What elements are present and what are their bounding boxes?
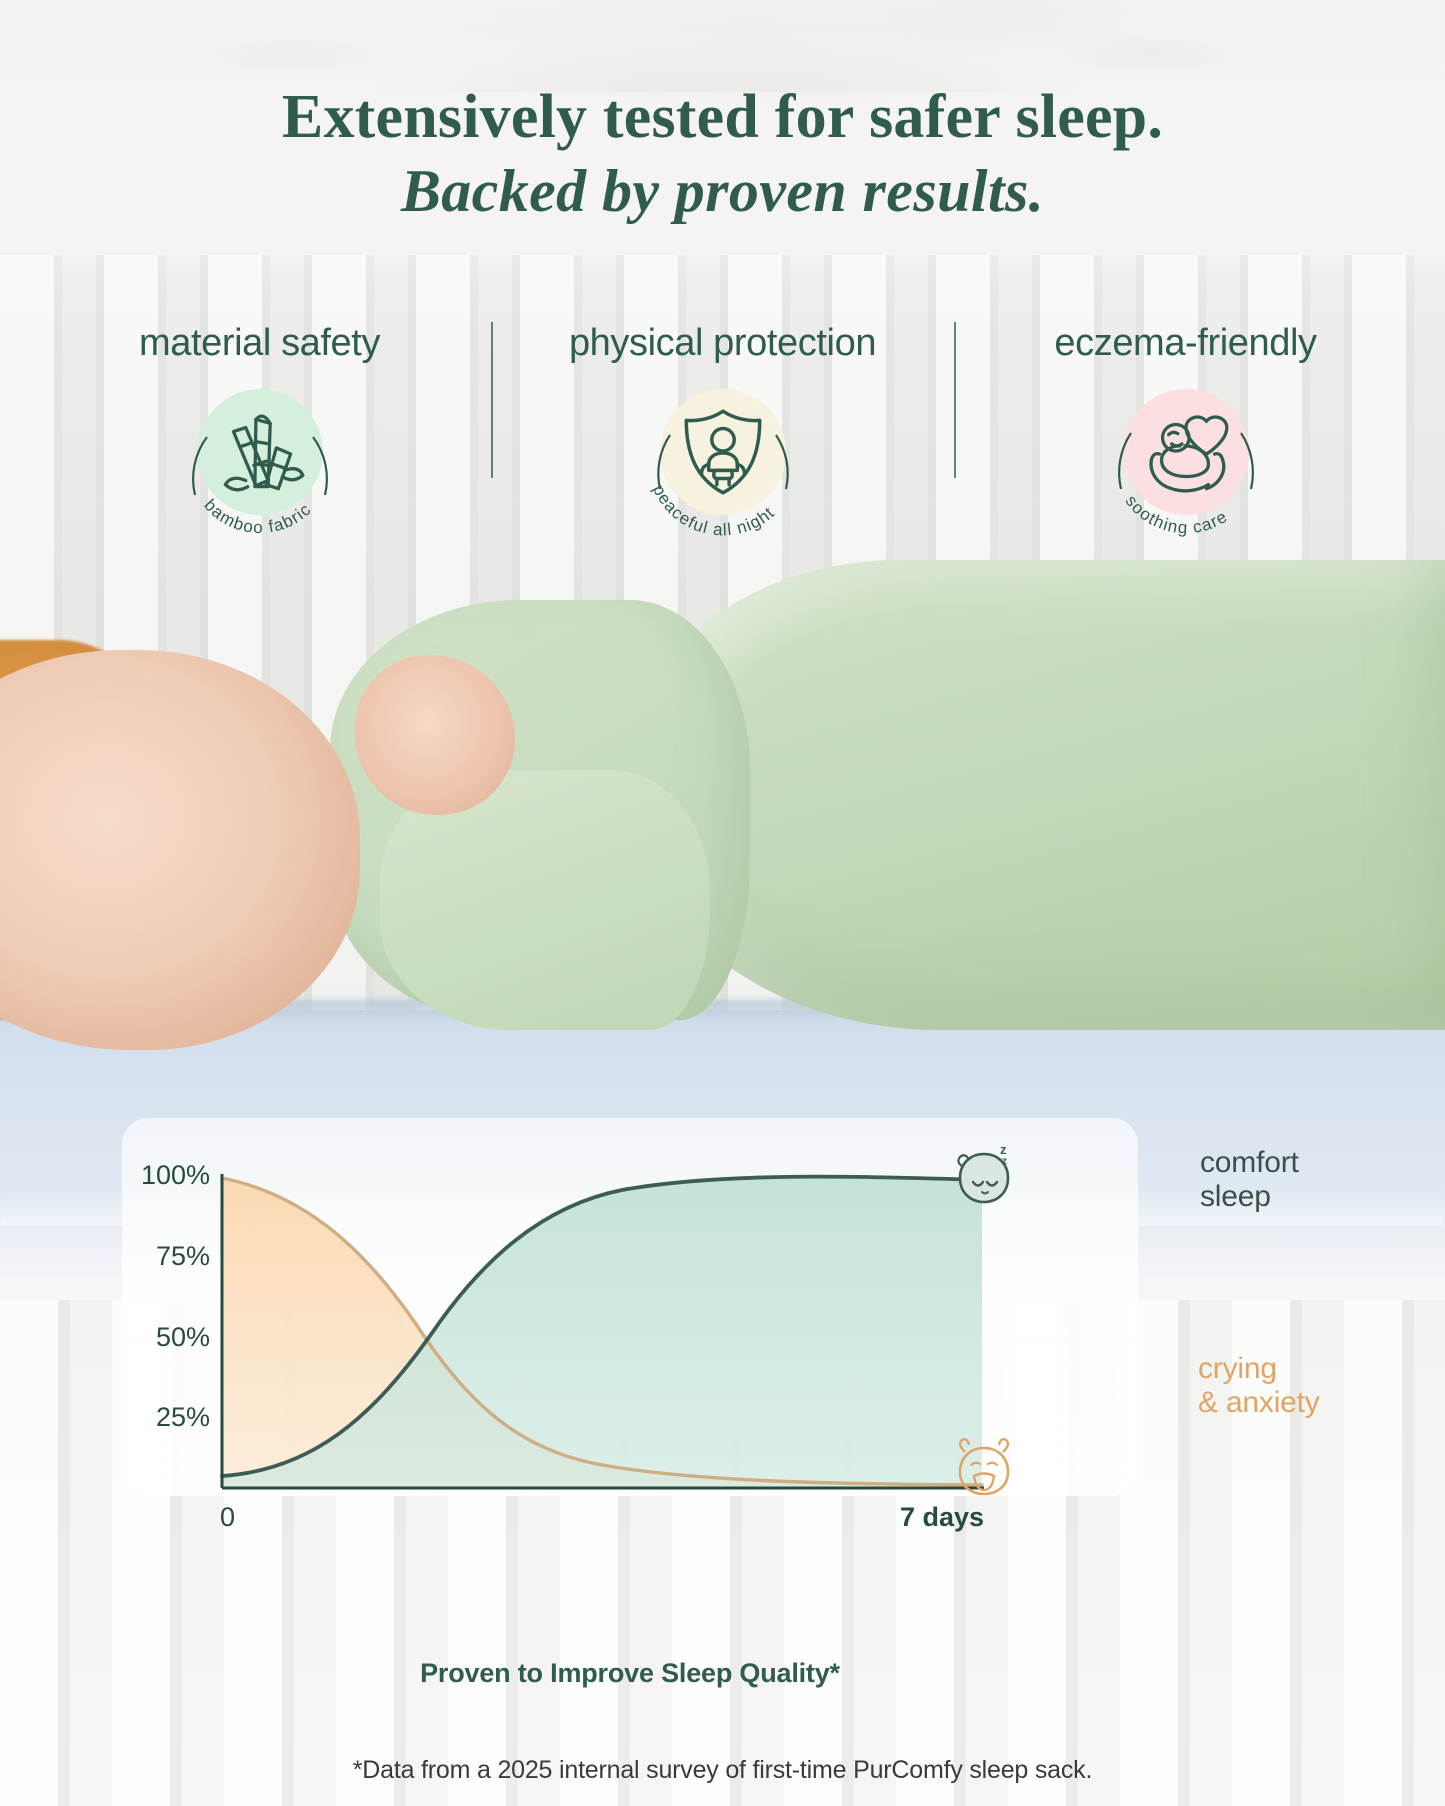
svg-text:z: z [1002,1156,1007,1167]
sleep-quality-chart: 100% 75% 50% 25% 0 7 days z z [122,1118,1222,1538]
y-tick-25: 25% [156,1402,210,1432]
feature-row: material safety bamboo fabric [28,322,1417,555]
badge-bamboo-fabric: bamboo fabric [171,377,349,555]
x-tick-start: 0 [220,1502,235,1532]
badge-soothing-care: soothing care [1097,377,1275,555]
legend-comfort-line2: sleep [1200,1180,1299,1214]
y-tick-100: 100% [141,1160,210,1190]
legend-comfort-sleep: comfort sleep [1200,1146,1299,1213]
footnote-disclaimer: *Data from a 2025 internal survey of fir… [0,1756,1445,1785]
baby-sleep-sack [640,560,1445,1030]
page-title: Extensively tested for safer sleep. Back… [0,86,1445,222]
svg-text:z: z [1000,1142,1007,1157]
y-tick-50: 50% [156,1322,210,1352]
feature-label: material safety [139,322,380,365]
x-tick-end: 7 days [900,1502,984,1532]
chart-title: Proven to Improve Sleep Quality* [122,1658,1138,1689]
legend-crying-line2: & anxiety [1198,1386,1320,1420]
feature-material-safety: material safety bamboo fabric [28,322,491,555]
shield-baby-icon [672,401,774,503]
headline-line-2: Backed by proven results. [0,161,1445,222]
feature-eczema-friendly: eczema-friendly soothing care [954,322,1417,555]
feature-label: eczema-friendly [1054,322,1316,365]
legend-crying-anxiety: crying & anxiety [1198,1352,1320,1419]
headline-line-1: Extensively tested for safer sleep. [282,83,1163,151]
badge-peaceful-all-night: peaceful all night [634,377,812,555]
legend-crying-line1: crying [1198,1352,1320,1386]
bamboo-stalks-icon [209,401,311,503]
sleeping-baby-face-icon: z z [958,1142,1008,1202]
baby-in-hands-heart-icon [1135,401,1237,503]
legend-comfort-line1: comfort [1200,1146,1299,1180]
y-tick-75: 75% [156,1241,210,1271]
promotional-graphic: Extensively tested for safer sleep. Back… [0,0,1445,1806]
feature-label: physical protection [569,322,876,365]
feature-physical-protection: physical protection peaceful all night [491,322,954,555]
